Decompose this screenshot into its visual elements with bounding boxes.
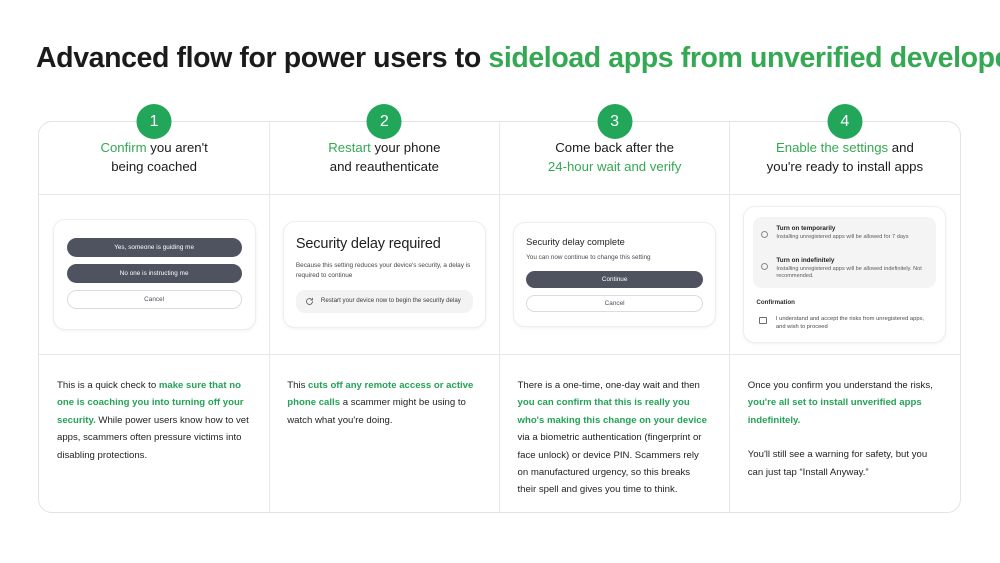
step-header-2-green: Restart: [328, 140, 371, 155]
step-header-1-line2: being coached: [111, 159, 197, 174]
run-plain: Once you confirm you understand the risk…: [748, 380, 933, 391]
radio-option-desc: Installing unregistered apps will be all…: [776, 234, 908, 242]
phone-dialog-coaching-check: Yes, someone is guiding me No one is ins…: [53, 219, 256, 330]
restart-action-row[interactable]: Restart your device now to begin the sec…: [296, 290, 473, 313]
step-header-3: 3 Come back after the 24-hour wait and v…: [500, 122, 730, 195]
confirmation-label: Confirmation: [756, 299, 936, 306]
refresh-icon: [305, 297, 314, 306]
body-paragraph: Once you confirm you understand the risk…: [748, 377, 940, 429]
step-header-4-green: Enable the settings: [776, 140, 888, 155]
step-header-text-1: Confirm you aren't being coached: [100, 138, 207, 176]
step-header-2-line2: and reauthenticate: [330, 159, 439, 174]
step-badge-4: 4: [827, 104, 862, 139]
step-body-3: There is a one-time, one-day wait and th…: [500, 355, 730, 512]
step-body-2: This cuts off any remote access or activ…: [269, 355, 499, 512]
step-header-text-3: Come back after the 24-hour wait and ver…: [548, 138, 681, 176]
step-visual-4: Turn on temporarily Installing unregiste…: [730, 195, 960, 355]
run-highlight: you're all set to install unverified app…: [748, 397, 922, 425]
step-header-1: 1 Confirm you aren't being coached: [39, 122, 269, 195]
step-badge-2: 2: [367, 104, 402, 139]
button-cancel[interactable]: Cancel: [67, 290, 242, 309]
step-badge-1: 1: [137, 104, 172, 139]
page-title: Advanced flow for power users to sideloa…: [36, 42, 976, 75]
step-visual-3: Security delay complete You can now cont…: [500, 195, 730, 355]
dialog-body: Because this setting reduces your device…: [296, 261, 473, 280]
button-yes-guiding[interactable]: Yes, someone is guiding me: [67, 238, 242, 257]
checkbox-icon[interactable]: [759, 317, 767, 325]
radio-option-indefinite[interactable]: Turn on indefinitely Installing unregist…: [753, 249, 936, 288]
step-badge-3: 3: [597, 104, 632, 139]
page-title-highlight: sideload apps from unverified developers: [488, 42, 1000, 74]
run-plain: via a biometric authentication (fingerpr…: [518, 432, 702, 495]
restart-action-label: Restart your device now to begin the sec…: [321, 297, 461, 306]
step-header-text-2: Restart your phone and reauthenticate: [328, 138, 440, 176]
run-plain: There is a one-time, one-day wait and th…: [518, 380, 700, 391]
run-plain: You'll still see a warning for safety, b…: [748, 449, 927, 477]
confirmation-text: I understand and accept the risks from u…: [776, 315, 933, 331]
radio-option-temporary[interactable]: Turn on temporarily Installing unregiste…: [753, 217, 936, 249]
button-no-one-instructing[interactable]: No one is instructing me: [67, 264, 242, 283]
run-plain: This: [287, 380, 308, 391]
button-cancel[interactable]: Cancel: [526, 295, 703, 312]
confirmation-row[interactable]: I understand and accept the risks from u…: [753, 315, 936, 331]
step-header-4: 4 Enable the settings and you're ready t…: [730, 122, 960, 195]
step-header-3-line2-green: 24-hour wait and verify: [548, 159, 681, 174]
radio-option-group: Turn on temporarily Installing unregiste…: [753, 217, 936, 288]
body-paragraph-2: You'll still see a warning for safety, b…: [748, 446, 940, 481]
step-header-text-4: Enable the settings and you're ready to …: [767, 138, 923, 176]
body-paragraph: This cuts off any remote access or activ…: [287, 377, 479, 429]
button-continue[interactable]: Continue: [526, 271, 703, 288]
step-body-4: Once you confirm you understand the risk…: [730, 355, 960, 512]
step-header-4-black: and: [888, 140, 914, 155]
phone-dialog-enable-settings: Turn on temporarily Installing unregiste…: [743, 206, 946, 343]
dialog-title: Security delay complete: [526, 237, 703, 247]
radio-icon: [761, 231, 768, 238]
step-visual-1: Yes, someone is guiding me No one is ins…: [39, 195, 269, 355]
radio-option-title: Turn on indefinitely: [776, 256, 927, 265]
steps-grid-inner: 1 Confirm you aren't being coached 2 Res…: [39, 122, 960, 512]
step-header-1-green: Confirm: [100, 140, 146, 155]
step-header-3-black: Come back after the: [555, 140, 674, 155]
radio-option-desc: Installing unregistered apps will be all…: [776, 266, 927, 281]
radio-option-title: Turn on temporarily: [776, 224, 908, 233]
phone-dialog-security-delay-complete: Security delay complete You can now cont…: [513, 222, 716, 327]
run-plain: This is a quick check to: [57, 380, 159, 391]
step-header-4-line2: you're ready to install apps: [767, 159, 923, 174]
dialog-body: You can now continue to change this sett…: [526, 254, 703, 261]
steps-grid: 1 Confirm you aren't being coached 2 Res…: [38, 121, 961, 513]
step-header-1-black: you aren't: [147, 140, 208, 155]
radio-icon: [761, 263, 768, 270]
step-body-1: This is a quick check to make sure that …: [39, 355, 269, 512]
step-header-2: 2 Restart your phone and reauthenticate: [269, 122, 499, 195]
dialog-title: Security delay required: [296, 235, 473, 253]
run-highlight: you can confirm that this is really you …: [518, 397, 707, 425]
body-paragraph: There is a one-time, one-day wait and th…: [518, 377, 710, 499]
body-paragraph: This is a quick check to make sure that …: [57, 377, 249, 464]
infographic-page: Advanced flow for power users to sideloa…: [0, 0, 1000, 563]
step-visual-2: Security delay required Because this set…: [269, 195, 499, 355]
step-header-2-black: your phone: [371, 140, 441, 155]
phone-dialog-security-delay-required: Security delay required Because this set…: [283, 221, 486, 328]
page-title-lead: Advanced flow for power users to: [36, 42, 488, 74]
